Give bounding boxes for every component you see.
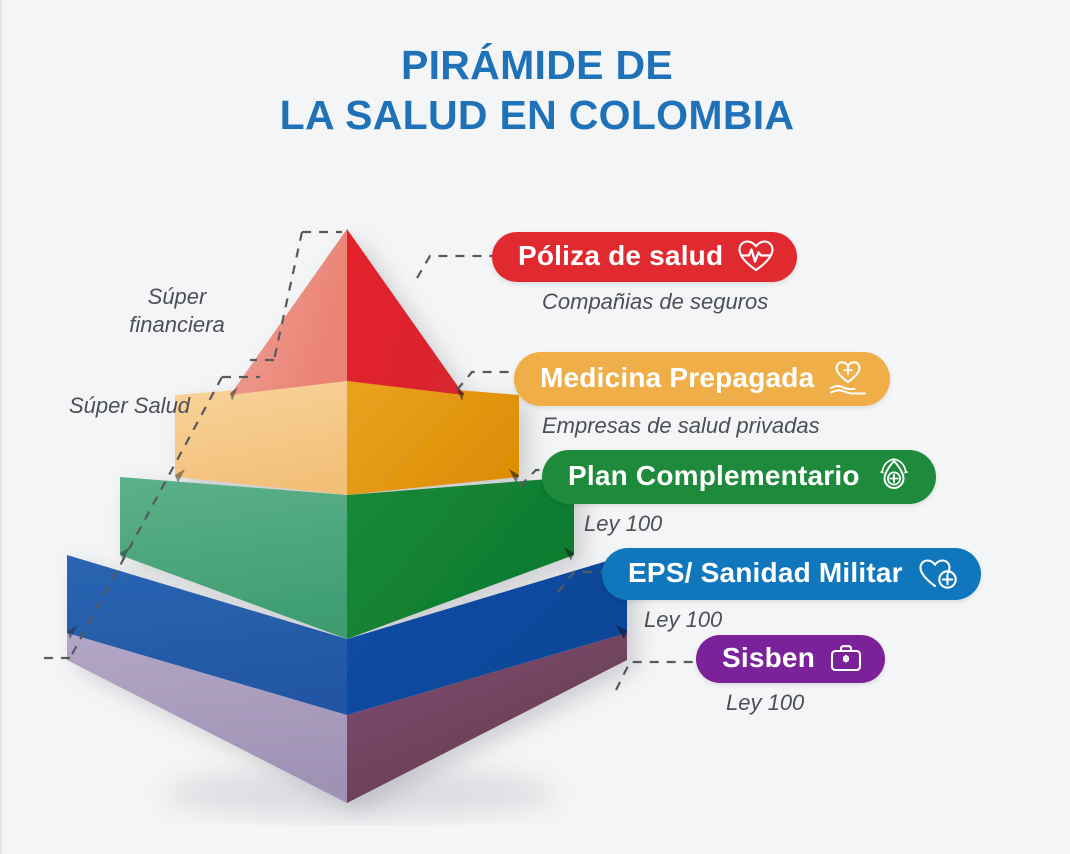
heart-plus-icon bbox=[917, 555, 959, 591]
callout-sublabel: Empresas de salud privadas bbox=[542, 413, 890, 439]
callout-eps-sanidad-militar[interactable]: EPS/ Sanidad Militar Ley 100 bbox=[602, 548, 981, 633]
callout-sisben[interactable]: Sisben Ley 100 bbox=[696, 635, 885, 716]
pill-label: EPS/ Sanidad Militar bbox=[628, 557, 903, 589]
bracket-label-line-1: Súper Salud bbox=[42, 392, 217, 420]
callout-medicina-prepagada[interactable]: Medicina Prepagada Empresas de salud pri… bbox=[514, 352, 890, 439]
bracket-label-line-2: financiera bbox=[102, 311, 252, 339]
pill-label: Póliza de salud bbox=[518, 240, 723, 272]
bracket-label-line-1: Súper bbox=[102, 283, 252, 311]
pill-plan-complementario[interactable]: Plan Complementario bbox=[542, 450, 936, 504]
droplet-cross-icon bbox=[874, 457, 914, 495]
callout-sublabel: Ley 100 bbox=[726, 690, 885, 716]
callout-sublabel: Ley 100 bbox=[584, 511, 936, 537]
callout-sublabel: Ley 100 bbox=[644, 607, 981, 633]
pill-poliza-de-salud[interactable]: Póliza de salud bbox=[492, 232, 797, 282]
bracket-label-super-salud: Súper Salud bbox=[42, 392, 217, 420]
page-title: PIRÁMIDE DE LA SALUD EN COLOMBIA bbox=[2, 40, 1070, 140]
medical-kit-icon bbox=[829, 642, 863, 674]
callout-sublabel: Compañias de seguros bbox=[542, 289, 797, 315]
title-line-1: PIRÁMIDE DE bbox=[2, 40, 1070, 90]
pill-medicina-prepagada[interactable]: Medicina Prepagada bbox=[514, 352, 890, 406]
infographic-canvas: PIRÁMIDE DE LA SALUD EN COLOMBIA bbox=[0, 0, 1070, 854]
callout-poliza-de-salud[interactable]: Póliza de salud Compañias de seguros bbox=[492, 232, 797, 315]
pill-eps-sanidad-militar[interactable]: EPS/ Sanidad Militar bbox=[602, 548, 981, 600]
callout-plan-complementario[interactable]: Plan Complementario Ley 100 bbox=[542, 450, 936, 537]
heart-pulse-icon bbox=[737, 239, 775, 273]
pill-label: Medicina Prepagada bbox=[540, 362, 814, 394]
title-line-2: LA SALUD EN COLOMBIA bbox=[2, 90, 1070, 140]
pill-label: Sisben bbox=[722, 642, 815, 674]
bracket-label-super-financiera: Súper financiera bbox=[102, 283, 252, 338]
pill-sisben[interactable]: Sisben bbox=[696, 635, 885, 683]
pill-label: Plan Complementario bbox=[568, 460, 860, 492]
hand-holding-heart-icon bbox=[828, 359, 868, 397]
